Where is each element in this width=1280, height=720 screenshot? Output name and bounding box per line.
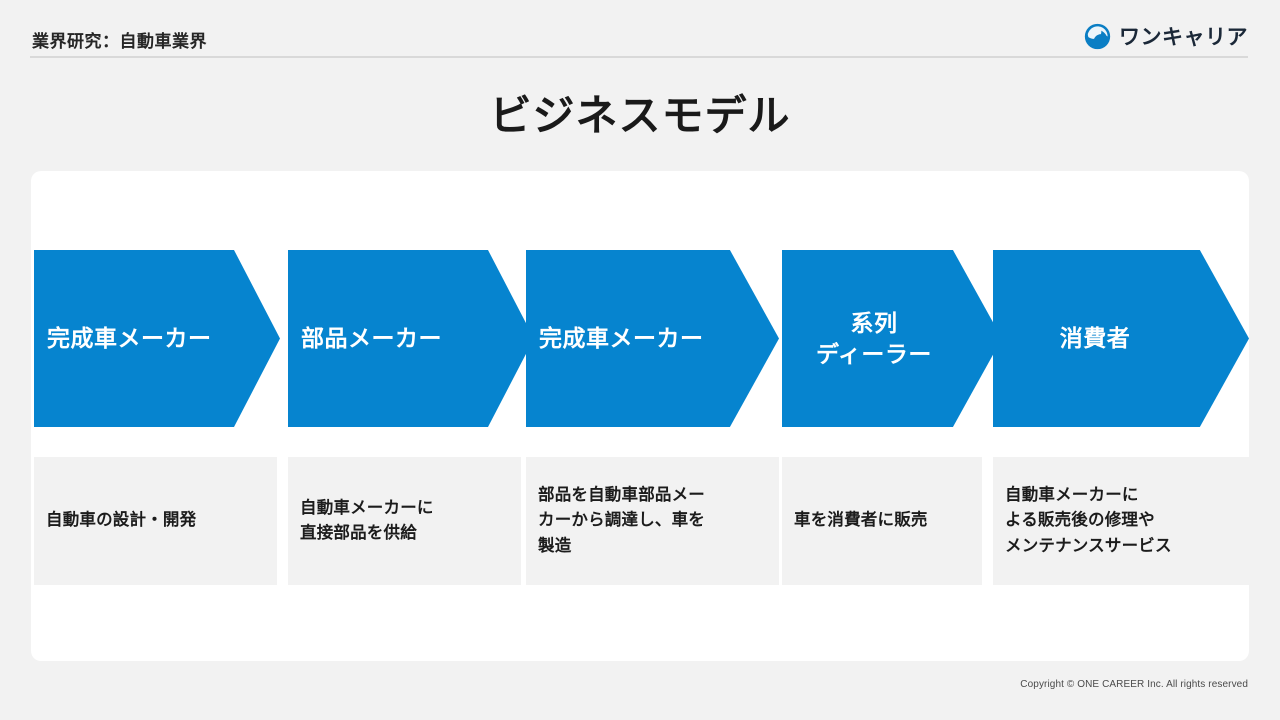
flow-step-2-label: 部品メーカー: [301, 323, 442, 353]
flow-description-3: 部品を自動車部品メー カーから調達し、車を 製造: [526, 457, 779, 585]
header-divider: [30, 56, 1248, 58]
flow-step-3: 完成車メーカー: [526, 250, 779, 427]
brand-name: ワンキャリア: [1119, 21, 1248, 51]
onecareer-swirl-icon: [1084, 23, 1111, 50]
flow-description-5: 自動車メーカーに よる販売後の修理や メンテナンスサービス: [993, 457, 1249, 585]
flow-step-4: 系列 ディーラー: [782, 250, 1002, 427]
flow-step-2: 部品メーカー: [288, 250, 534, 427]
flow-step-3-label: 完成車メーカー: [539, 323, 704, 353]
value-chain-flow: 完成車メーカー 部品メーカー 完成車メーカー 系列 ディーラー 消費者: [34, 250, 1249, 427]
flow-description-4: 車を消費者に販売: [782, 457, 982, 585]
flow-step-1: 完成車メーカー: [34, 250, 280, 427]
flow-step-1-label: 完成車メーカー: [47, 323, 212, 353]
flow-step-5: 消費者: [993, 250, 1249, 427]
flow-step-5-label: 消費者: [1060, 323, 1131, 353]
page-title: ビジネスモデル: [0, 82, 1280, 143]
brand-logo-lockup: ワンキャリア: [1084, 21, 1248, 51]
flow-step-4-label: 系列 ディーラー: [816, 308, 932, 369]
header-title: 業界研究：自動車業界: [32, 27, 207, 52]
content-card: 完成車メーカー 部品メーカー 完成車メーカー 系列 ディーラー 消費者 自動車の…: [31, 171, 1249, 661]
flow-description-1: 自動車の設計・開発: [34, 457, 277, 585]
flow-descriptions: 自動車の設計・開発 自動車メーカーに 直接部品を供給 部品を自動車部品メー カー…: [34, 457, 1249, 585]
flow-description-2: 自動車メーカーに 直接部品を供給: [288, 457, 521, 585]
page-header: 業界研究：自動車業界 ワンキャリア: [0, 0, 1280, 57]
copyright-notice: Copyright © ONE CAREER Inc. All rights r…: [1020, 679, 1248, 690]
